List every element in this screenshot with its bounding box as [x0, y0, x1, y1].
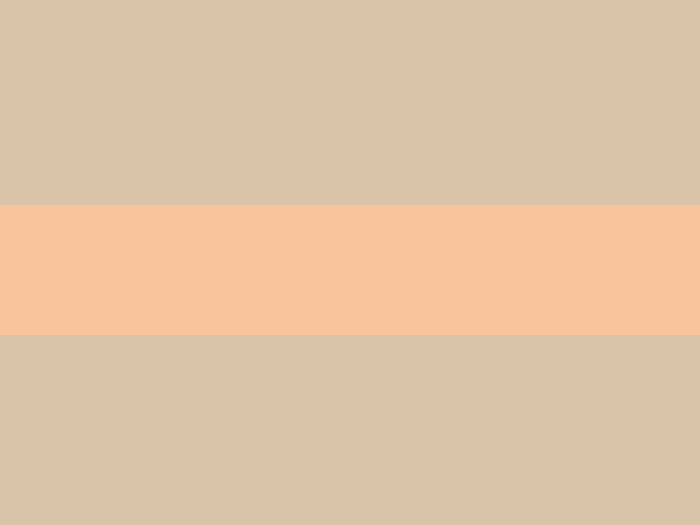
worksheet-row-top: [0, 0, 700, 212]
worksheet-row-bottom: [0, 332, 700, 525]
promo-banner: [0, 205, 700, 335]
